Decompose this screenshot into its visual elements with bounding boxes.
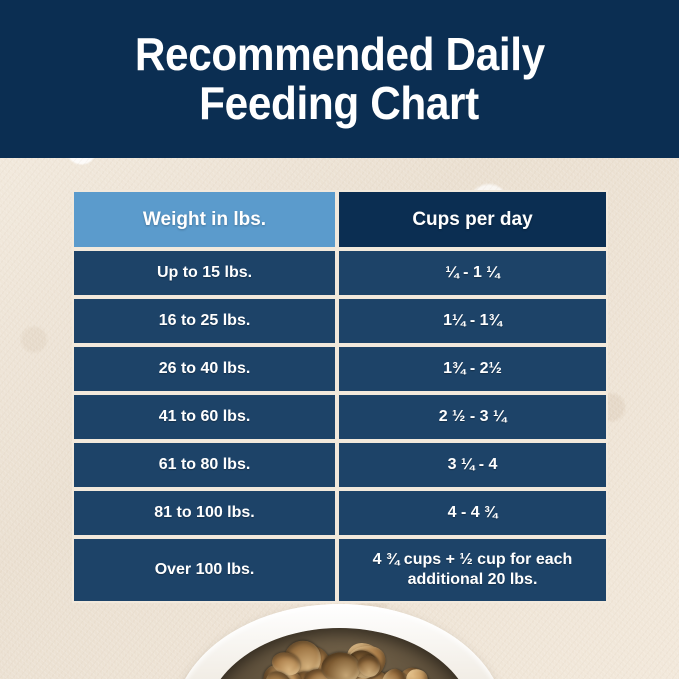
bowl-interior (205, 628, 474, 679)
cell-weight: 41 to 60 lbs. (72, 393, 337, 441)
table-row: 41 to 60 lbs. 2 ½ - 3 ¼ (72, 393, 608, 441)
cell-weight: 26 to 40 lbs. (72, 345, 337, 393)
table-header: Weight in lbs. Cups per day (72, 190, 608, 249)
dog-food-bowl-photo (173, 604, 506, 679)
cell-cups: 4 ¾ cups + ½ cup for each additional 20 … (337, 537, 608, 603)
table-row: 26 to 40 lbs. 1¾ - 2½ (72, 345, 608, 393)
page-title-line-1: Recommended Daily (134, 30, 544, 79)
table-body: Up to 15 lbs. ¼ - 1 ¼ 16 to 25 lbs. 1¼ -… (72, 249, 608, 603)
bowl-rim (173, 604, 506, 679)
cell-cups: 1¾ - 2½ (337, 345, 608, 393)
column-header-weight: Weight in lbs. (72, 190, 337, 249)
cell-cups: 4 - 4 ¾ (337, 489, 608, 537)
cell-cups: ¼ - 1 ¼ (337, 249, 608, 297)
cell-weight: 16 to 25 lbs. (72, 297, 337, 345)
cell-cups: 3 ¼ - 4 (337, 441, 608, 489)
cell-cups: 2 ½ - 3 ¼ (337, 393, 608, 441)
cell-weight: Up to 15 lbs. (72, 249, 337, 297)
cell-weight: Over 100 lbs. (72, 537, 337, 603)
table-row: Up to 15 lbs. ¼ - 1 ¼ (72, 249, 608, 297)
table-row: 81 to 100 lbs. 4 - 4 ¾ (72, 489, 608, 537)
cell-weight: 61 to 80 lbs. (72, 441, 337, 489)
feeding-chart-table: Weight in lbs. Cups per day Up to 15 lbs… (72, 190, 608, 603)
table-row: 61 to 80 lbs. 3 ¼ - 4 (72, 441, 608, 489)
title-banner: Recommended Daily Feeding Chart (0, 0, 679, 158)
table-row: 16 to 25 lbs. 1¼ - 1¾ (72, 297, 608, 345)
table-header-row: Weight in lbs. Cups per day (72, 190, 608, 249)
page-title-line-2: Feeding Chart (200, 79, 480, 128)
table-row: Over 100 lbs. 4 ¾ cups + ½ cup for each … (72, 537, 608, 603)
cell-cups: 1¼ - 1¾ (337, 297, 608, 345)
cell-weight: 81 to 100 lbs. (72, 489, 337, 537)
column-header-cups: Cups per day (337, 190, 608, 249)
